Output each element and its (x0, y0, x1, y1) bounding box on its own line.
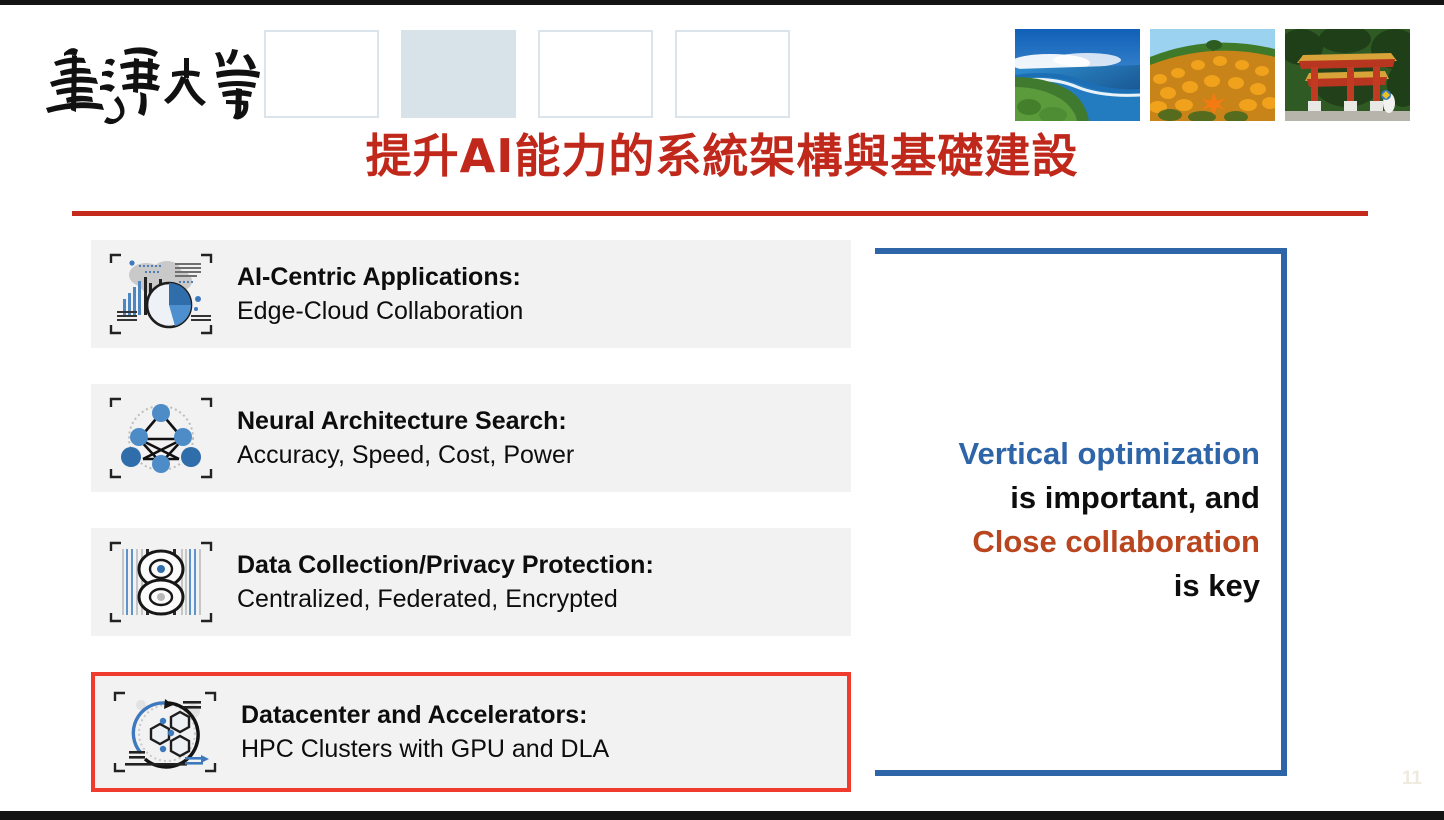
list-item-title: AI-Centric Applications: (237, 260, 851, 295)
callout-line-1: Vertical optimization (880, 432, 1260, 476)
list-item-title: Data Collection/Privacy Protection: (237, 548, 851, 583)
callout-line-4: is key (880, 564, 1260, 608)
list-item[interactable]: Datacenter and Accelerators: HPC Cluster… (91, 672, 851, 792)
callout-line-2: is important, and (880, 476, 1260, 520)
list-item[interactable]: Neural Architecture Search: Accuracy, Sp… (91, 384, 851, 492)
list-item[interactable]: AI-Centric Applications: Edge-Cloud Coll… (91, 240, 851, 348)
callout-line-3: Close collaboration (880, 520, 1260, 564)
slide-canvas: 提升AI能力的系統架構與基礎建設 (0, 0, 1444, 820)
ntu-calligraphy-logo (40, 28, 268, 128)
list-item-subtitle: HPC Clusters with GPU and DLA (241, 732, 847, 767)
cloud-analytics-icon (91, 244, 231, 344)
photo-temple-gate (1285, 29, 1410, 121)
datacenter-accelerator-icon (95, 682, 235, 782)
list-item-title: Datacenter and Accelerators: (241, 698, 847, 733)
list-item[interactable]: Data Collection/Privacy Protection: Cent… (91, 528, 851, 636)
title-divider-rule (72, 211, 1368, 216)
list-item-text: Neural Architecture Search: Accuracy, Sp… (231, 404, 851, 473)
header-box-4 (675, 30, 790, 118)
list-item-subtitle: Centralized, Federated, Encrypted (237, 582, 851, 617)
header-box-3 (538, 30, 653, 118)
neural-network-icon (91, 388, 231, 488)
list-item-text: Datacenter and Accelerators: HPC Cluster… (235, 698, 847, 767)
list-item-subtitle: Accuracy, Speed, Cost, Power (237, 438, 851, 473)
topic-list: AI-Centric Applications: Edge-Cloud Coll… (91, 240, 851, 792)
list-item-text: AI-Centric Applications: Edge-Cloud Coll… (231, 260, 851, 329)
viewer-chrome-bottom (0, 811, 1444, 820)
photo-daylily-field (1150, 29, 1275, 121)
slide-title: 提升AI能力的系統架構與基礎建設 (0, 131, 1444, 182)
data-privacy-icon (91, 532, 231, 632)
callout-text: Vertical optimization is important, and … (880, 432, 1260, 608)
header-box-group (264, 30, 790, 118)
header-photo-strip (1015, 29, 1410, 121)
header-box-1 (264, 30, 379, 118)
list-item-title: Neural Architecture Search: (237, 404, 851, 439)
page-number: 11 (1402, 768, 1422, 790)
photo-coastline (1015, 29, 1140, 121)
viewer-chrome-top (0, 0, 1444, 5)
header-box-2 (401, 30, 516, 118)
list-item-text: Data Collection/Privacy Protection: Cent… (231, 548, 851, 617)
list-item-subtitle: Edge-Cloud Collaboration (237, 294, 851, 329)
